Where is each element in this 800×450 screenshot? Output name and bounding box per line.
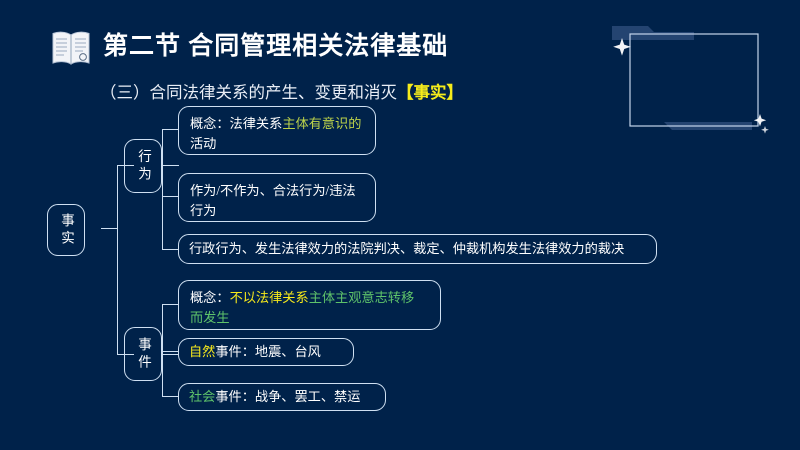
behavior-types-line2: 行为 — [190, 203, 216, 218]
connector-behavior-item1 — [162, 129, 179, 130]
event-natural-head: 自然 — [189, 342, 215, 362]
node-event-concept[interactable]: 概念：不以法律关系主体主观意志转移 而发生 — [178, 280, 441, 330]
behavior-concept-prefix: 概念：法律关系 — [190, 116, 282, 131]
page-title: 第二节 合同管理相关法律基础 — [103, 26, 448, 62]
connector-behavior-item2 — [162, 196, 179, 197]
event-social-body: 事件：战争、罢工、禁运 — [215, 387, 360, 407]
node-branch-event-label: 事件 — [133, 337, 153, 372]
node-behavior-concept[interactable]: 概念：法律关系主体有意识的 活动 — [178, 106, 376, 155]
node-event-natural[interactable]: 自然事件：地震、台风 — [178, 338, 354, 366]
event-concept-green: 主体主观意志转移 — [309, 290, 415, 305]
connector-main-spine — [117, 165, 118, 355]
behavior-concept-emphasis: 主体有意识的 — [282, 116, 361, 131]
open-book-icon — [48, 25, 94, 71]
decorative-frame-graphic — [602, 18, 788, 140]
subtitle-main-text: （三）合同法律关系的产生、变更和消灭 — [100, 83, 397, 102]
connector-event-out — [162, 354, 179, 355]
connector-behavior-spine — [162, 129, 163, 250]
connector-event-item2 — [162, 351, 179, 352]
connector-behavior-item3 — [162, 249, 179, 250]
node-branch-behavior-label: 行为 — [133, 149, 153, 184]
node-root-fact[interactable]: 事实 — [47, 204, 85, 256]
node-branch-behavior[interactable]: 行为 — [124, 139, 162, 193]
node-event-social[interactable]: 社会事件：战争、罢工、禁运 — [178, 383, 386, 411]
node-branch-event[interactable]: 事件 — [124, 327, 162, 381]
event-concept-yellow: 不以法律关系 — [230, 290, 309, 305]
behavior-admin-acts-label: 行政行为、发生法律效力的法院判决、裁定、仲裁机构发生法律效力的裁决 — [189, 239, 624, 259]
connector-event-item3 — [162, 396, 179, 397]
node-root-fact-label: 事实 — [56, 213, 76, 248]
connector-behavior-out — [162, 165, 179, 166]
behavior-concept-tail: 活动 — [190, 136, 216, 151]
connector-event-item1 — [162, 304, 179, 305]
node-behavior-admin-acts[interactable]: 行政行为、发生法律效力的法院判决、裁定、仲裁机构发生法律效力的裁决 — [178, 234, 657, 264]
node-behavior-types[interactable]: 作为/不作为、合法行为/违法 行为 — [178, 173, 376, 222]
event-social-head: 社会 — [189, 387, 215, 407]
event-concept-green-2: 而发生 — [190, 310, 230, 325]
connector-event-spine — [162, 304, 163, 396]
slide-canvas: 第二节 合同管理相关法律基础 （三）合同法律关系的产生、变更和消灭【事实】 — [0, 0, 800, 450]
behavior-types-line1: 作为/不作为、合法行为/违法 — [190, 183, 356, 198]
subtitle-highlight-badge: 【事实】 — [397, 83, 463, 102]
event-concept-prefix: 概念： — [190, 290, 230, 305]
slide-subtitle: （三）合同法律关系的产生、变更和消灭【事实】 — [100, 79, 463, 103]
event-natural-body: 事件：地震、台风 — [215, 342, 321, 362]
connector-root-to-spine — [101, 228, 118, 229]
